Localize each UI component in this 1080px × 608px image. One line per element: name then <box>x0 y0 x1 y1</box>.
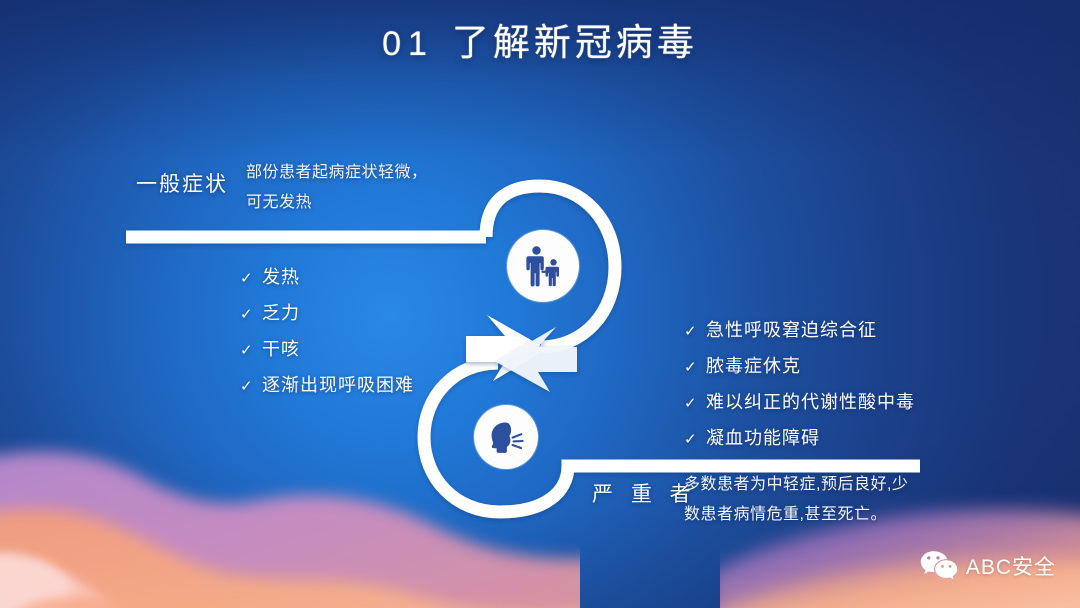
check-icon: ✓ <box>240 370 262 404</box>
check-icon: ✓ <box>684 387 706 421</box>
slide-title-text: 了解新冠病毒 <box>452 22 698 63</box>
upper-section-label: 一般症状 <box>136 168 228 198</box>
list-item: ✓ 乏力 <box>240 296 414 332</box>
upper-icon-bubble <box>507 230 579 302</box>
list-item-label: 凝血功能障碍 <box>706 421 820 455</box>
slide-title: 01了解新冠病毒 <box>0 12 1080 66</box>
wechat-watermark: ABC安全 <box>920 550 1056 582</box>
list-item-label: 脓毒症休克 <box>706 349 801 383</box>
check-icon: ✓ <box>684 423 706 457</box>
list-item: ✓ 脓毒症休克 <box>684 349 915 385</box>
list-item: ✓ 发热 <box>240 260 414 296</box>
list-item: ✓ 逐渐出现呼吸困难 <box>240 368 414 404</box>
list-item: ✓ 干咳 <box>240 332 414 368</box>
wechat-account-name: ABC安全 <box>966 551 1056 581</box>
wechat-icon <box>920 550 958 582</box>
list-item: ✓ 难以纠正的代谢性酸中毒 <box>684 385 915 421</box>
lower-section-label: 严 重 者 <box>592 478 697 508</box>
slide-title-number: 01 <box>382 25 434 63</box>
coughing-head-icon <box>485 418 527 456</box>
lower-symptom-list: ✓ 急性呼吸窘迫综合征 ✓ 脓毒症休克 ✓ 难以纠正的代谢性酸中毒 ✓ 凝血功能… <box>684 313 915 457</box>
list-item-label: 干咳 <box>262 332 300 366</box>
adult-and-child-icon <box>523 245 563 287</box>
slide-canvas: 01了解新冠病毒 <box>0 0 1080 608</box>
lower-desc-line-1: 多数患者为中轻症,预后良好,少 <box>684 470 908 500</box>
upper-section-description: 部份患者起病症状轻微， 可无发热 <box>246 158 428 218</box>
check-icon: ✓ <box>684 351 706 385</box>
check-icon: ✓ <box>240 334 262 368</box>
list-item-label: 逐渐出现呼吸困难 <box>262 368 414 402</box>
list-item-label: 急性呼吸窘迫综合征 <box>706 313 877 347</box>
check-icon: ✓ <box>684 315 706 349</box>
upper-symptom-list: ✓ 发热 ✓ 乏力 ✓ 干咳 ✓ 逐渐出现呼吸困难 <box>240 260 414 404</box>
list-item-label: 乏力 <box>262 296 300 330</box>
list-item: ✓ 凝血功能障碍 <box>684 421 915 457</box>
background-top-fade <box>0 0 1080 608</box>
upper-desc-line-2: 可无发热 <box>246 188 428 218</box>
lower-icon-bubble <box>474 405 538 469</box>
list-item: ✓ 急性呼吸窘迫综合征 <box>684 313 915 349</box>
lower-desc-line-2: 数患者病情危重,甚至死亡。 <box>684 500 908 530</box>
check-icon: ✓ <box>240 262 262 296</box>
check-icon: ✓ <box>240 298 262 332</box>
lower-section-description: 多数患者为中轻症,预后良好,少 数患者病情危重,甚至死亡。 <box>684 470 908 530</box>
list-item-label: 发热 <box>262 260 300 294</box>
upper-desc-line-1: 部份患者起病症状轻微， <box>246 158 428 188</box>
list-item-label: 难以纠正的代谢性酸中毒 <box>706 385 915 419</box>
